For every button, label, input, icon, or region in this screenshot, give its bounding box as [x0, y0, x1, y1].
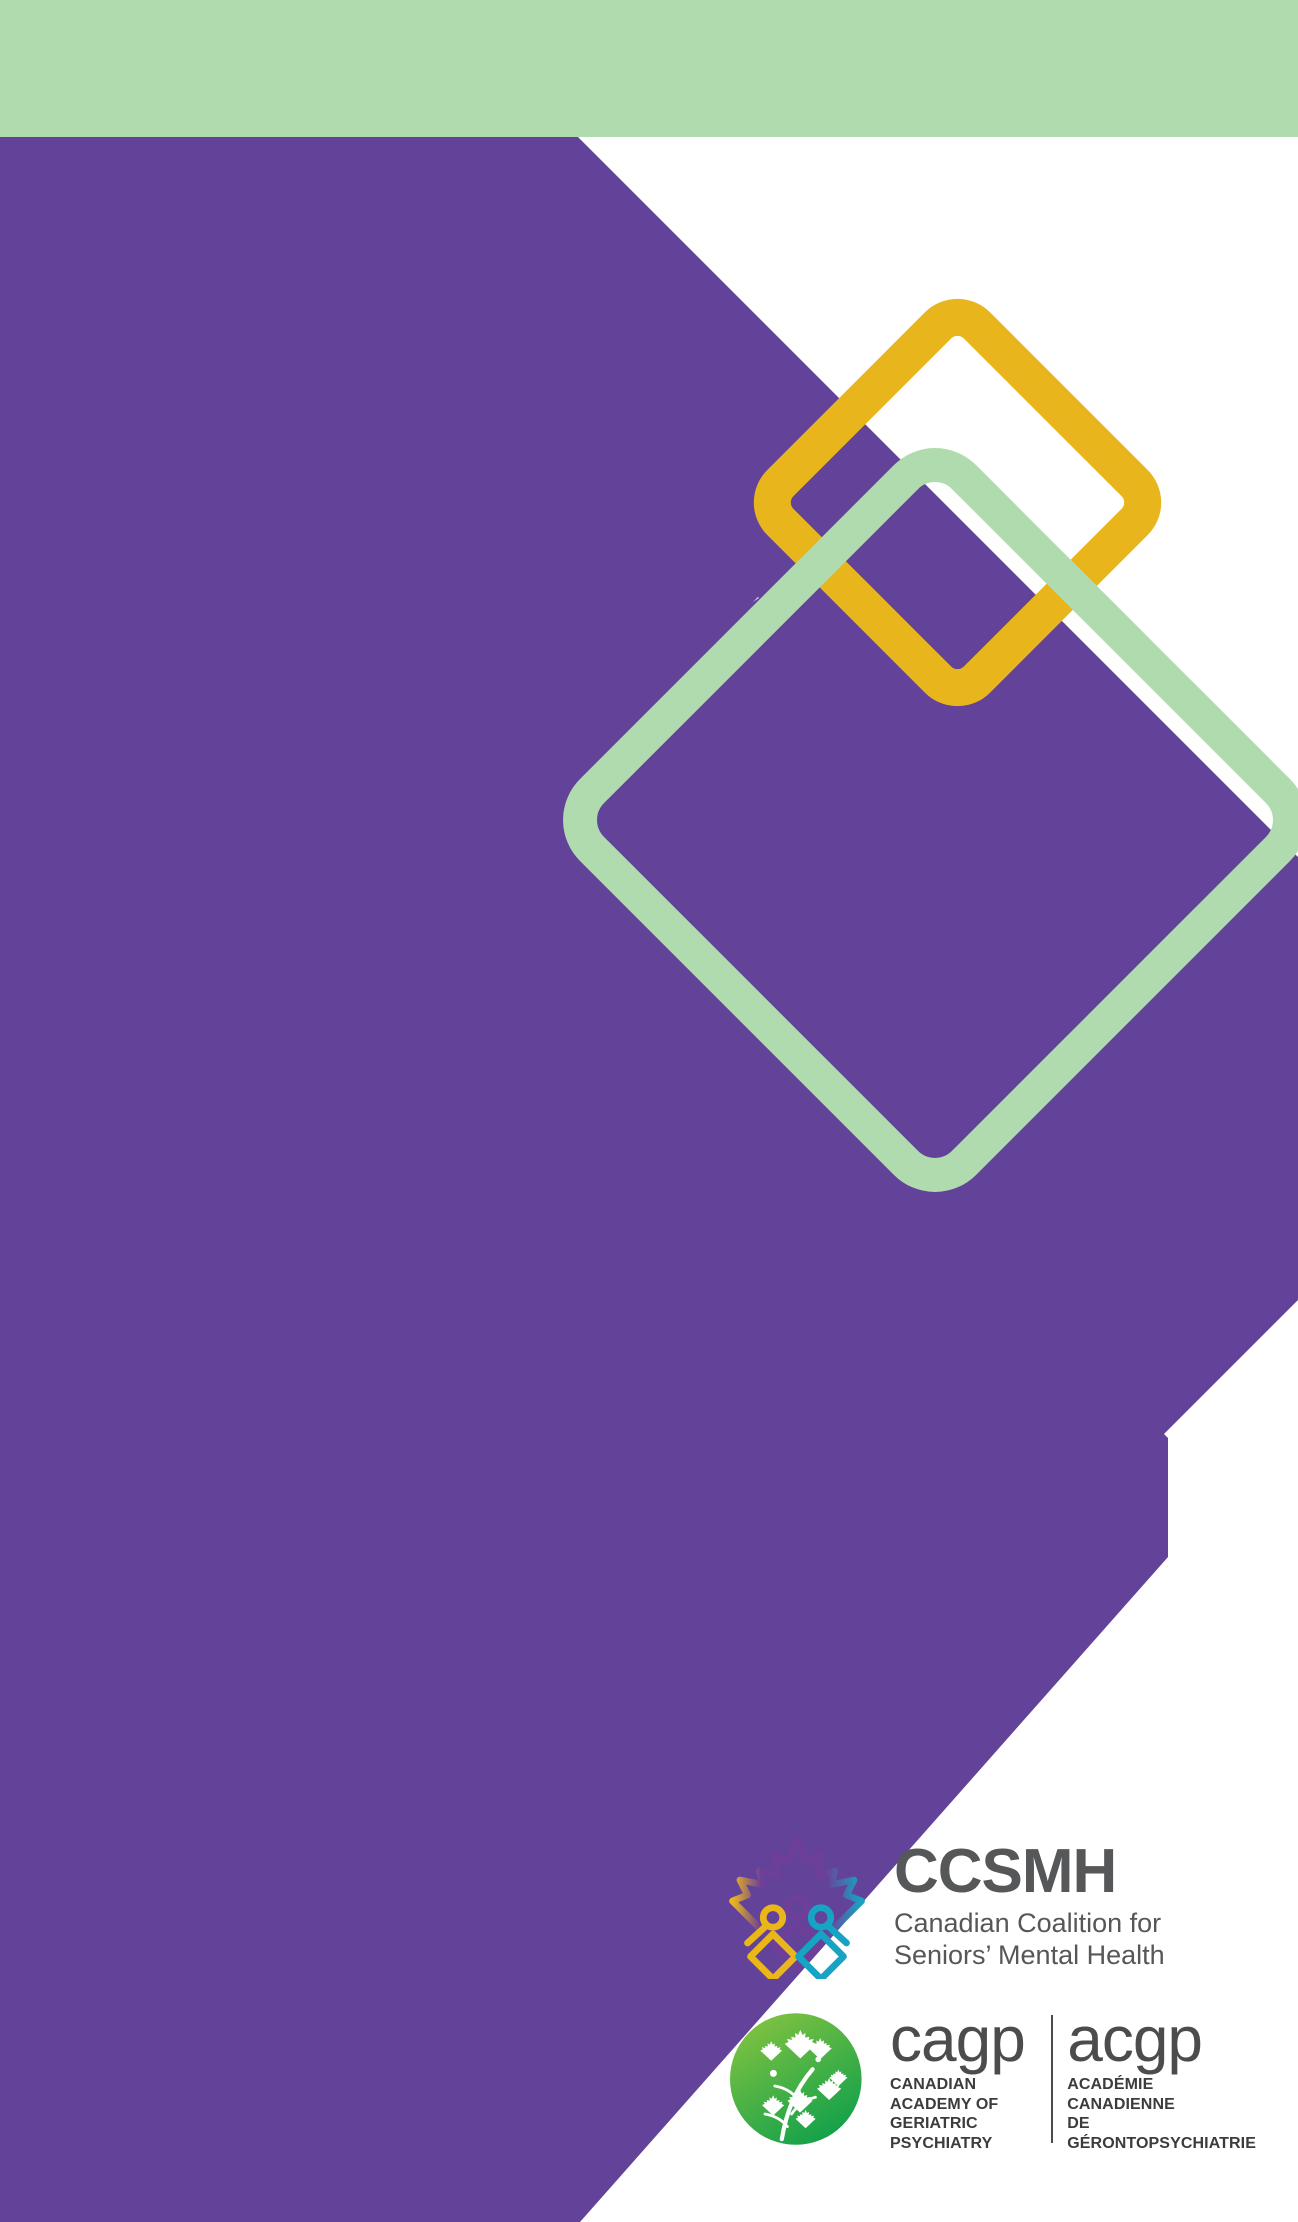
acgp-french-block: acgp ACADÉMIE CANADIENNE DE GÉRONTOPSYCH… [1053, 2009, 1270, 2154]
cagp-acgp-logo: cagp CANADIAN ACADEMY OF GERIATRIC PSYCH… [730, 2006, 1270, 2156]
cagp-english-block: cagp CANADIAN ACADEMY OF GERIATRIC PSYCH… [876, 2009, 1051, 2154]
pocket-card: Pocket card on Social Isolation and Lone… [0, 0, 1298, 2222]
cagp-tagline-en: CANADIAN ACADEMY OF GERIATRIC PSYCHIATRY [890, 2075, 1037, 2153]
green-circle-maple-foliage-icon [730, 2009, 870, 2154]
acgp-tagline-fr: ACADÉMIE CANADIENNE DE GÉRONTOPSYCHIATRI… [1067, 2075, 1256, 2153]
ccsmh-logo: CCSMH Canadian Coalition for Seniors’ Me… [722, 1824, 1222, 1989]
cagp-tagline-en-line-1: CANADIAN ACADEMY OF [890, 2076, 998, 2113]
acgp-tagline-fr-line-2: DE GÉRONTOPSYCHIATRIE [1067, 2115, 1256, 2152]
cagp-tagline-en-line-2: GERIATRIC PSYCHIATRY [890, 2115, 992, 2152]
ccsmh-fullname-line-2: Seniors’ Mental Health [894, 1940, 1165, 1970]
ccsmh-fullname-line-1: Canadian Coalition for [894, 1908, 1161, 1938]
maple-leaf-three-people-icon [722, 1829, 872, 1984]
ccsmh-wordmark: CCSMH Canadian Coalition for Seniors’ Me… [894, 1841, 1165, 1972]
acgp-tagline-fr-line-1: ACADÉMIE CANADIENNE [1067, 2076, 1175, 2113]
top-green-band [0, 0, 1298, 137]
acgp-wordmark-fr: acgp [1067, 2009, 1256, 2070]
ccsmh-acronym: CCSMH [894, 1841, 1165, 1903]
cagp-acgp-wordmark: cagp CANADIAN ACADEMY OF GERIATRIC PSYCH… [876, 2009, 1270, 2154]
cagp-wordmark-en: cagp [890, 2009, 1037, 2070]
ccsmh-fullname: Canadian Coalition for Seniors’ Mental H… [894, 1908, 1165, 1972]
